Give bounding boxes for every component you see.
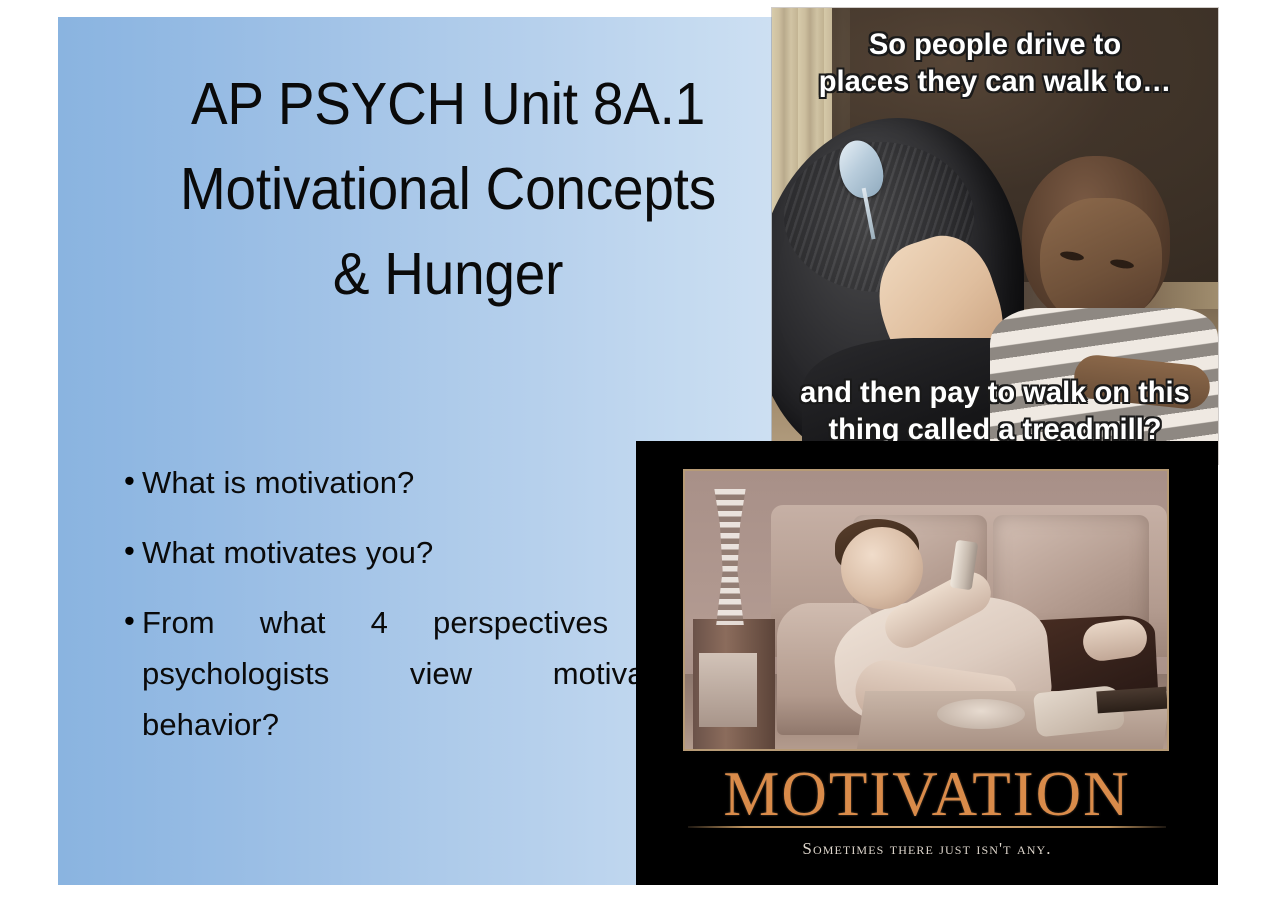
list-item-label: From what 4 perspectives do psychologist… [142,597,688,750]
list-item: • What is motivation? [108,457,688,508]
list-item-label: What motivates you? [142,527,688,578]
poster-divider [688,826,1166,828]
poster-photo-frame [683,469,1169,751]
list-item-label: What is motivation? [142,457,688,508]
poster-photo-man-head [841,527,923,609]
poster-title: MOTIVATION [636,761,1218,827]
bullet-dot-icon: • [108,527,142,575]
list-item: • From what 4 perspectives do psychologi… [108,597,688,750]
meme-caption-top: So people drive to places they can walk … [779,26,1212,100]
meme-caption-bottom: and then pay to walk on this thing calle… [779,374,1212,448]
poster-subtitle: Sometimes there just isn't any. [636,839,1218,859]
list-item: • What motivates you? [108,527,688,578]
bullet-list: • What is motivation? • What motivates y… [108,457,688,769]
treadmill-meme-image: So people drive to places they can walk … [772,8,1218,464]
slide-root: AP PSYCH Unit 8A.1 Motivational Concepts… [0,0,1280,905]
poster-photo-plate [937,699,1025,729]
motivation-poster: MOTIVATION Sometimes there just isn't an… [636,441,1218,885]
poster-photo-side-table [693,619,775,751]
bullet-dot-icon: • [108,597,142,645]
bullet-dot-icon: • [108,457,142,505]
page-title: AP PSYCH Unit 8A.1 Motivational Concepts… [123,62,774,317]
